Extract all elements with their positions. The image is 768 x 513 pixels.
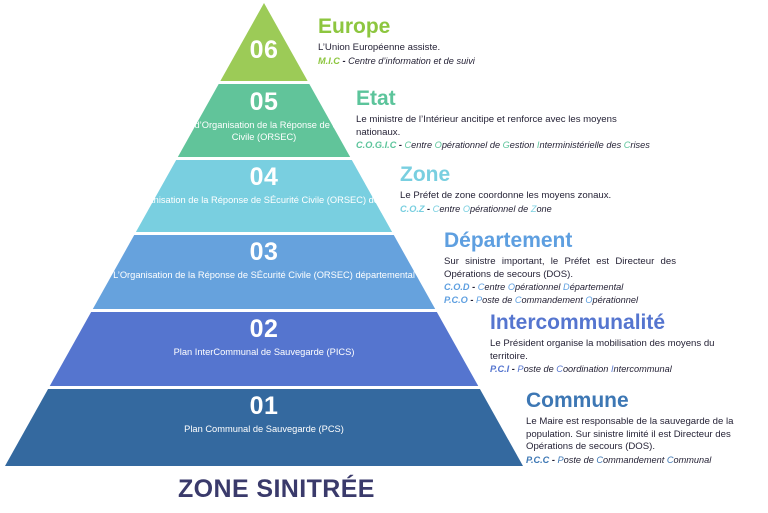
annotation-body: Le Président organise la mobilisation de… xyxy=(490,338,740,363)
annotation-title: Zone xyxy=(400,164,700,185)
acronym-expansion: Centre Opérationnel de Gestion Intermini… xyxy=(405,140,650,150)
acronym-code: M.I.C xyxy=(318,56,340,66)
pyramid-band-06 xyxy=(220,3,307,81)
annotation-acronyms: C.O.Z - Centre Opérationnel de Zone xyxy=(400,203,700,216)
acronym-expansion: Poste de Coordination Intercommunal xyxy=(517,364,671,374)
diagram-canvas: 06 05 Le Plan d’Organisation de la Répon… xyxy=(0,0,768,513)
pyramid-band-02 xyxy=(50,312,478,386)
acronym-expansion: Centre Opérationnel Départemental xyxy=(478,282,624,292)
acronym-separator: - xyxy=(549,455,557,465)
annotation-body: Le Maire est responsable de la sauvegard… xyxy=(526,416,766,454)
annotation-body: Le ministre de l’Intérieur ancitipe et r… xyxy=(356,114,656,139)
page-title: ZONE SINITRÉE xyxy=(178,475,375,504)
acronym-line: C.O.G.I.C - Centre Opérationnel de Gesti… xyxy=(356,139,656,152)
pyramid-band-03 xyxy=(93,235,435,309)
acronym-expansion: Centre d’information et de suivi xyxy=(348,56,475,66)
acronym-line: P.C.O - Poste de Commandement Opérationn… xyxy=(444,294,676,307)
annotation-acronyms: C.O.D - Centre Opérationnel Départementa… xyxy=(444,281,676,306)
annotation-acronyms: M.I.C - Centre d’information et de suivi xyxy=(318,55,648,68)
acronym-separator: - xyxy=(340,56,348,66)
acronym-expansion: Centre Opérationnel de Zone xyxy=(433,204,552,214)
annotation-acronyms: P.C.I - Poste de Coordination Intercommu… xyxy=(490,363,740,376)
acronym-code: P.C.C xyxy=(526,455,549,465)
annotation-zone: Zone Le Préfet de zone coordonne les moy… xyxy=(400,164,700,215)
acronym-separator: - xyxy=(396,140,404,150)
acronym-separator: - xyxy=(425,204,433,214)
annotation-europe: Europe L’Union Européenne assiste. M.I.C… xyxy=(318,16,648,67)
acronym-code: C.O.D xyxy=(444,282,470,292)
pyramid-band-05 xyxy=(178,84,350,157)
acronym-code: P.C.O xyxy=(444,295,468,305)
acronym-line: P.C.I - Poste de Coordination Intercommu… xyxy=(490,363,740,376)
annotation-acronyms: C.O.G.I.C - Centre Opérationnel de Gesti… xyxy=(356,139,656,152)
pyramid-band-01 xyxy=(5,389,523,466)
annotation-intercommunalite: Intercommunalité Le Président organise l… xyxy=(490,312,740,376)
acronym-line: C.O.Z - Centre Opérationnel de Zone xyxy=(400,203,700,216)
annotation-body: L’Union Européenne assiste. xyxy=(318,42,648,55)
annotation-body: Le Préfet de zone coordonne les moyens z… xyxy=(400,190,700,203)
annotation-title: Europe xyxy=(318,16,648,37)
acronym-line: C.O.D - Centre Opérationnel Départementa… xyxy=(444,281,676,294)
annotation-body: Sur sinistre important, le Préfet est Di… xyxy=(444,256,676,281)
acronym-line: M.I.C - Centre d’information et de suivi xyxy=(318,55,648,68)
annotation-etat: Etat Le ministre de l’Intérieur ancitipe… xyxy=(356,88,656,152)
annotation-title: Etat xyxy=(356,88,656,109)
acronym-separator: - xyxy=(468,295,476,305)
acronym-code: C.O.Z xyxy=(400,204,425,214)
acronym-code: P.C.I xyxy=(490,364,509,374)
acronym-expansion: Poste de Commandement Opérationnel xyxy=(476,295,638,305)
annotation-title: Département xyxy=(444,230,676,251)
annotation-departement: Département Sur sinistre important, le P… xyxy=(444,230,676,306)
acronym-separator: - xyxy=(470,282,478,292)
pyramid-band-04 xyxy=(136,160,392,232)
annotation-title: Commune xyxy=(526,390,766,411)
acronym-expansion: Poste de Commandement Communal xyxy=(558,455,712,465)
annotation-commune: Commune Le Maire est responsable de la s… xyxy=(526,390,766,466)
annotation-title: Intercommunalité xyxy=(490,312,740,333)
acronym-line: P.C.C - Poste de Commandement Communal xyxy=(526,454,766,467)
acronym-code: C.O.G.I.C xyxy=(356,140,396,150)
annotation-acronyms: P.C.C - Poste de Commandement Communal xyxy=(526,454,766,467)
